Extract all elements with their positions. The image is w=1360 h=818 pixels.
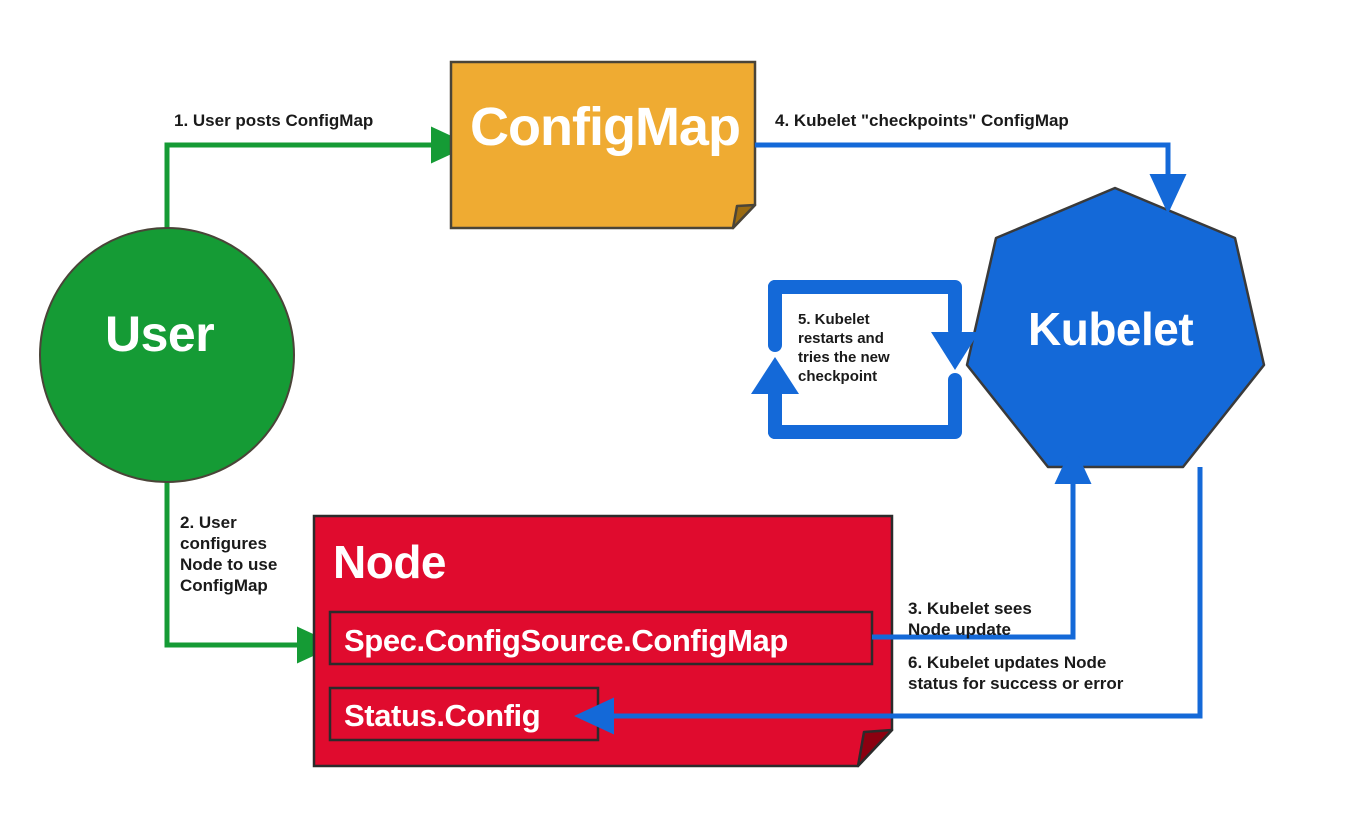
diagram-canvas: User ConfigMap Kubelet Node Spec.ConfigS… [0,0,1360,818]
step-label-5: 5. Kubelet restarts and tries the new ch… [798,310,890,386]
step-label-3: 3. Kubelet sees Node update [908,598,1032,640]
connector-step-4 [755,145,1168,180]
node-node[interactable] [314,516,892,766]
step-label-1: 1. User posts ConfigMap [174,110,373,131]
step-label-2: 2. User configures Node to use ConfigMap [180,512,277,596]
step-label-4: 4. Kubelet "checkpoints" ConfigMap [775,110,1069,131]
node-configmap[interactable] [451,62,755,228]
node-user[interactable] [40,228,294,482]
step-label-6: 6. Kubelet updates Node status for succe… [908,652,1123,694]
node-kubelet[interactable] [967,188,1264,467]
